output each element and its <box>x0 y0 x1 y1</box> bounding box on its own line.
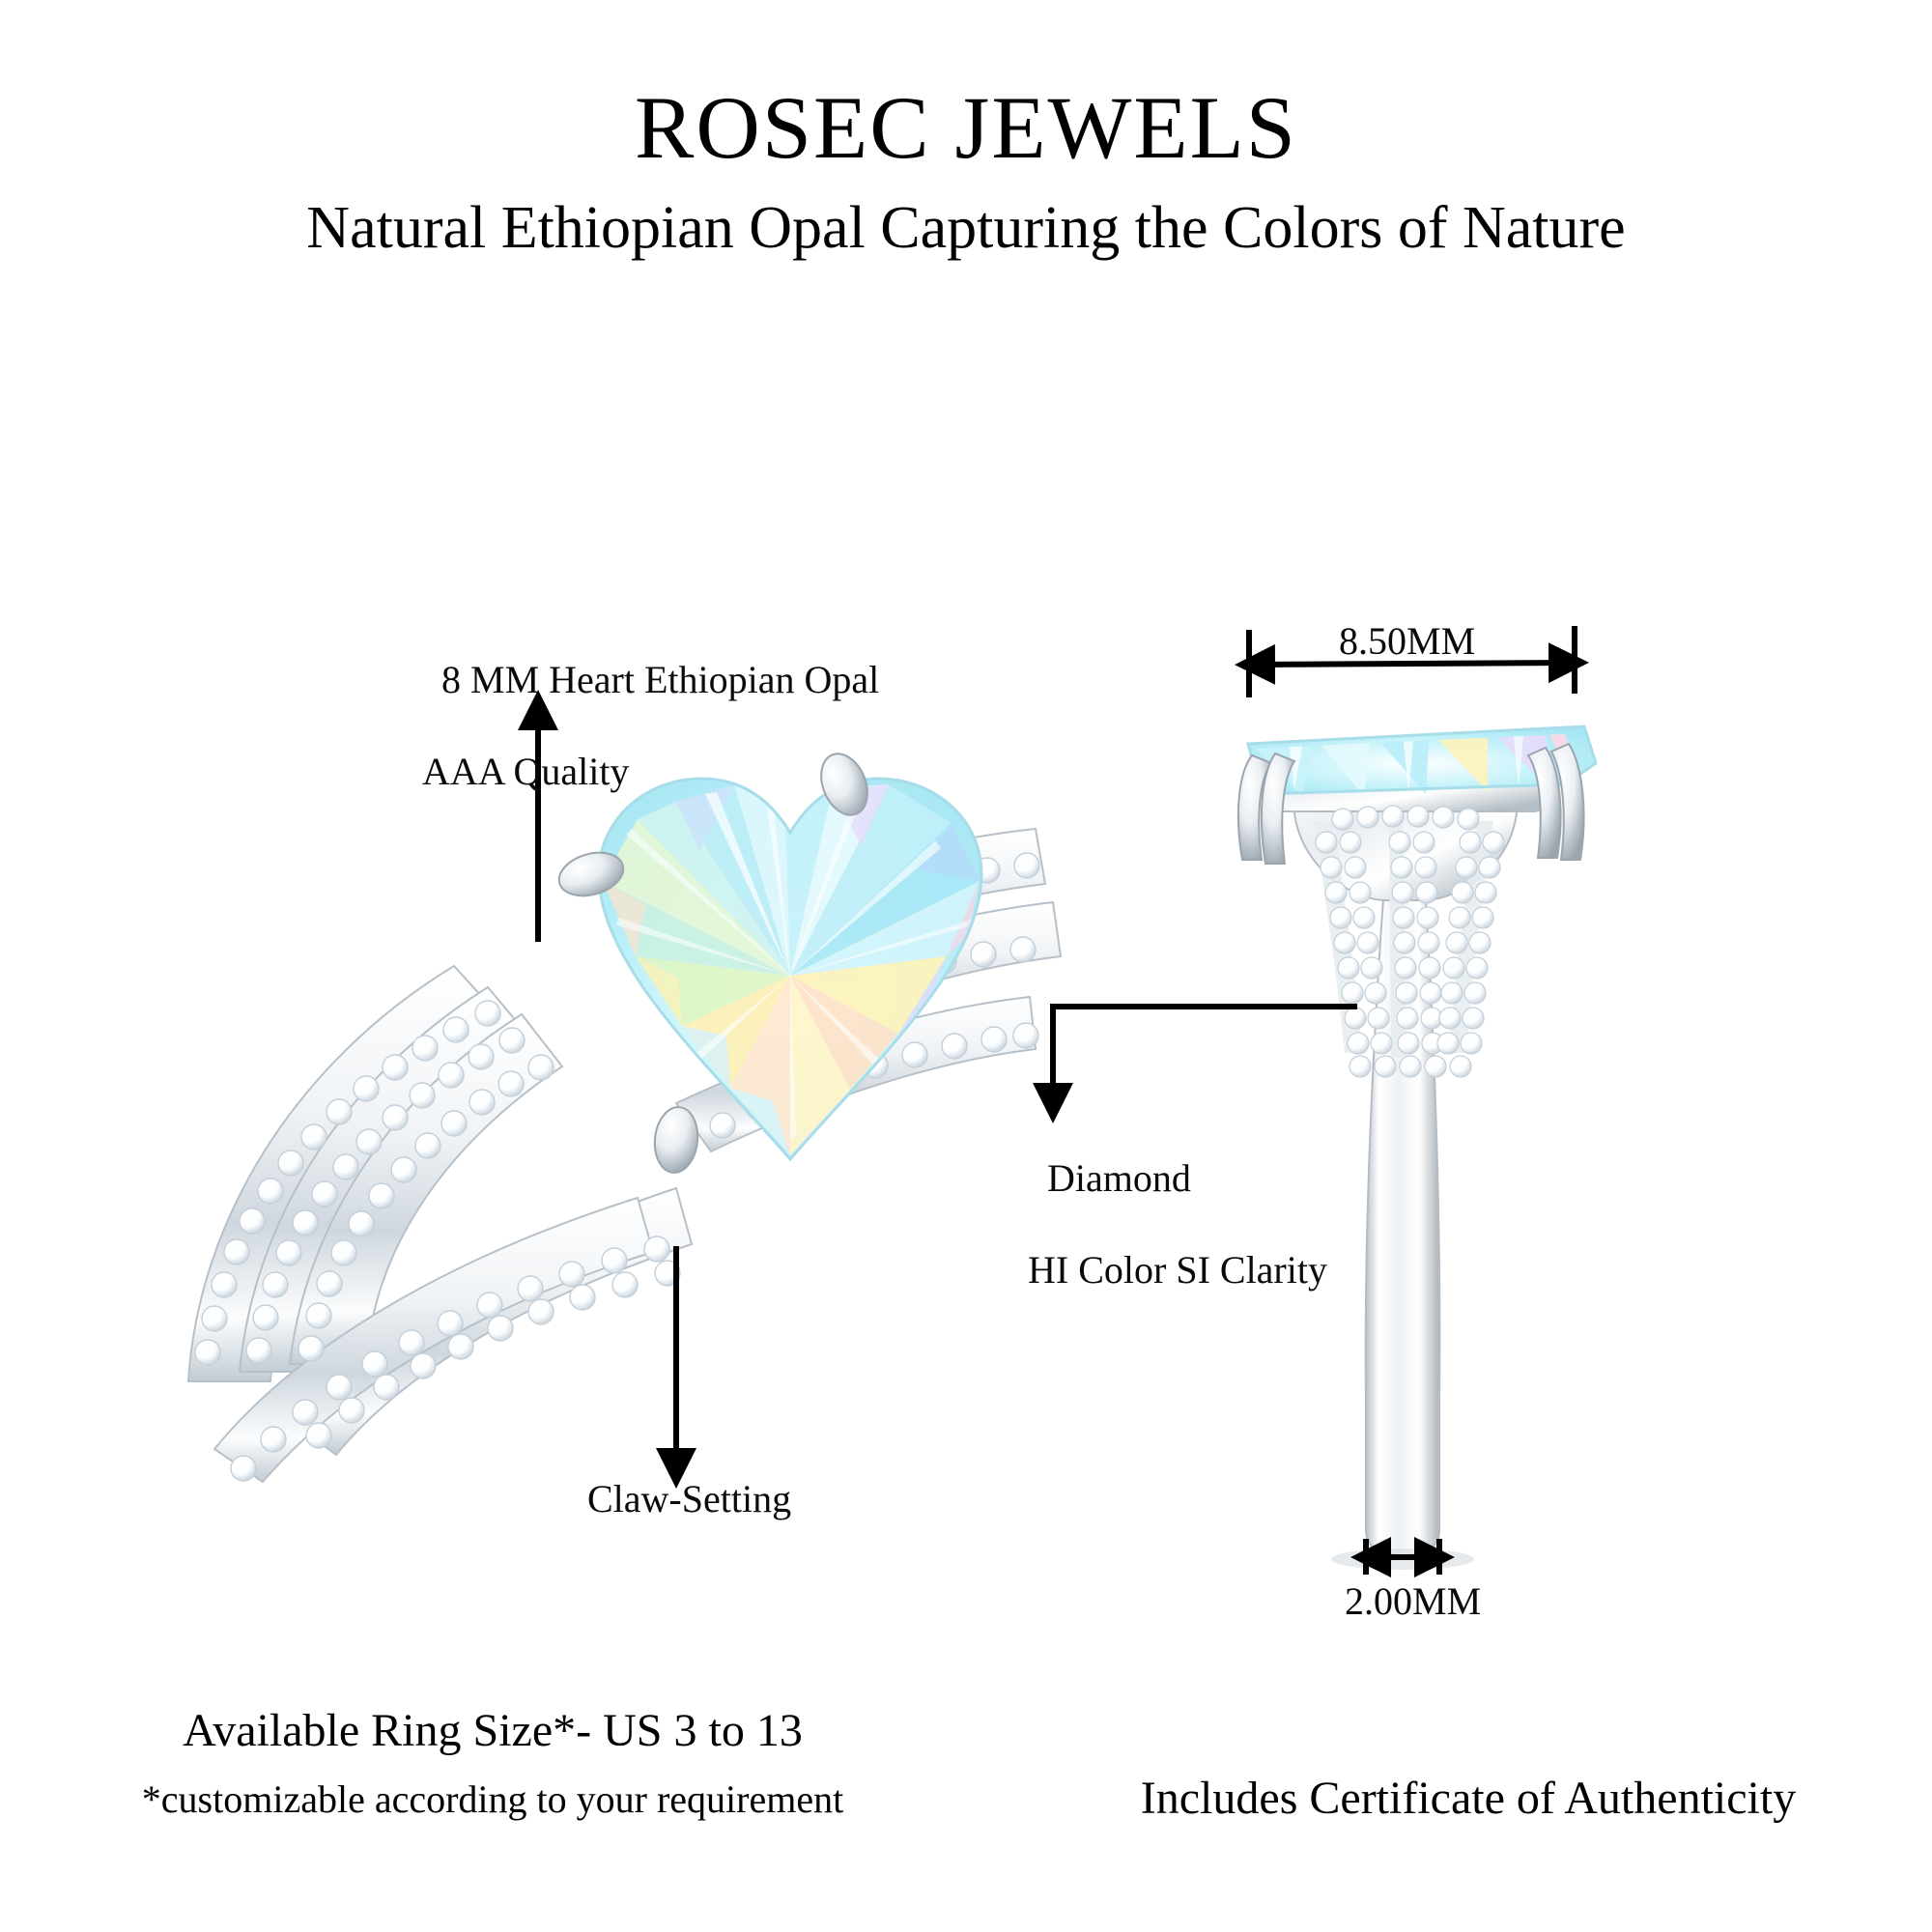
certificate-footer: Includes Certificate of Authenticity <box>1043 1772 1893 1825</box>
product-illustration <box>0 0 1932 1932</box>
ring-front-view <box>188 747 1061 1482</box>
ring-size-text: Available Ring Size*- US 3 to 13 <box>58 1706 927 1757</box>
diamond-callout-line2: HI Color SI Clarity <box>1028 1247 1327 1293</box>
gemstone-callout-line2: AAA Quality <box>422 749 879 794</box>
customizable-note-text: *customizable according to your requirem… <box>58 1757 927 1821</box>
setting-callout-label: Claw-Setting <box>587 1476 791 1521</box>
diamond-callout-label: Diamond HI Color SI Clarity <box>1028 1110 1327 1338</box>
band-width-label: 2.00MM <box>1345 1578 1481 1624</box>
diamond-callout-line1: Diamond <box>1047 1156 1191 1200</box>
gemstone-callout-line1: 8 MM Heart Ethiopian Opal <box>441 658 879 701</box>
ring-size-footer: Available Ring Size*- US 3 to 13 *custom… <box>58 1706 927 1821</box>
gemstone-callout-label: 8 MM Heart Ethiopian Opal AAA Quality <box>422 611 879 839</box>
head-width-label: 8.50MM <box>1339 618 1475 664</box>
